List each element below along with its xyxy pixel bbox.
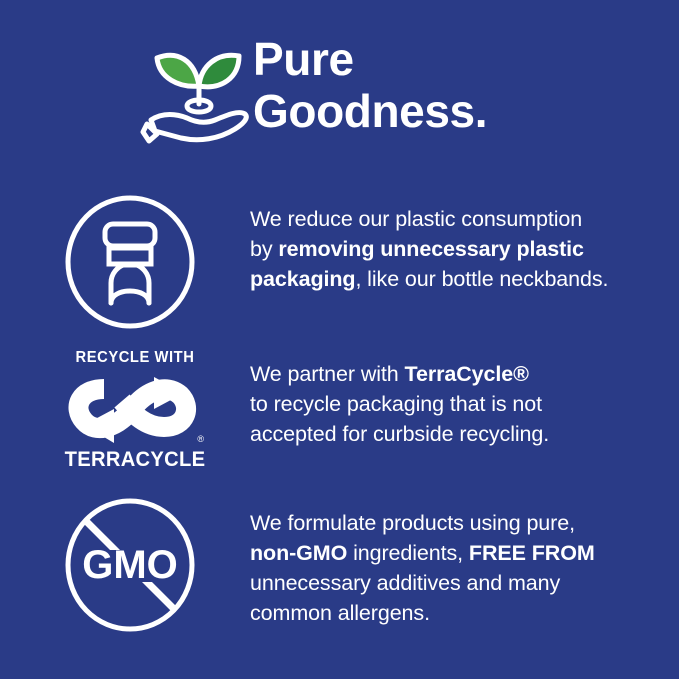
page-title: Pure Goodness. <box>253 33 673 137</box>
gmo-label: GMO <box>82 543 178 587</box>
benefit-text-plastic: We reduce our plastic consumption by rem… <box>250 190 679 294</box>
header: Pure Goodness. <box>0 0 679 175</box>
terracycle-logo: RECYCLE WITH ® TERRACYCLE <box>60 349 210 477</box>
text-line: We formulate products using pure, <box>250 508 665 538</box>
terracycle-top-label: RECYCLE WITH <box>64 349 207 366</box>
text-line: We partner with TerraCycle® <box>250 359 665 389</box>
benefit-row-gmo: GMO We formulate products using pure, no… <box>0 492 679 632</box>
text-line: by removing unnecessary plastic <box>250 234 665 264</box>
text-line: unnecessary additives and many <box>250 568 665 598</box>
benefit-icon-slot: GMO <box>0 492 250 632</box>
bottle-neckband-icon <box>63 195 197 329</box>
text-line: common allergens. <box>250 598 665 628</box>
benefit-text-gmo: We formulate products using pure, non-GM… <box>250 492 679 628</box>
benefit-text-terracycle: We partner with TerraCycle® to recycle p… <box>250 345 679 449</box>
text-line: non-GMO ingredients, FREE FROM <box>250 538 665 568</box>
pure-goodness-panel: Pure Goodness. We reduce our plastic c <box>0 0 679 679</box>
no-gmo-icon: GMO <box>63 498 197 632</box>
benefit-row-plastic: We reduce our plastic consumption by rem… <box>0 190 679 330</box>
registered-mark: ® <box>197 435 204 444</box>
infinity-recycle-arrows-icon: ® <box>60 369 210 447</box>
text-line: to recycle packaging that is not <box>250 389 665 419</box>
text-line: We reduce our plastic consumption <box>250 204 665 234</box>
terracycle-bottom-label: TERRACYCLE <box>63 448 207 471</box>
text-line: accepted for curbside recycling. <box>250 419 665 449</box>
text-line: packaging, like our bottle neckbands. <box>250 264 665 294</box>
benefit-icon-slot: RECYCLE WITH ® TERRACYCLE <box>0 345 250 480</box>
benefit-row-terracycle: RECYCLE WITH ® TERRACYCLE We partner wit… <box>0 345 679 480</box>
page-title-line-2: Goodness. <box>253 85 673 137</box>
page-title-line-1: Pure <box>253 33 673 85</box>
hand-holding-sprout-icon <box>143 34 255 146</box>
benefit-icon-slot <box>0 190 250 330</box>
